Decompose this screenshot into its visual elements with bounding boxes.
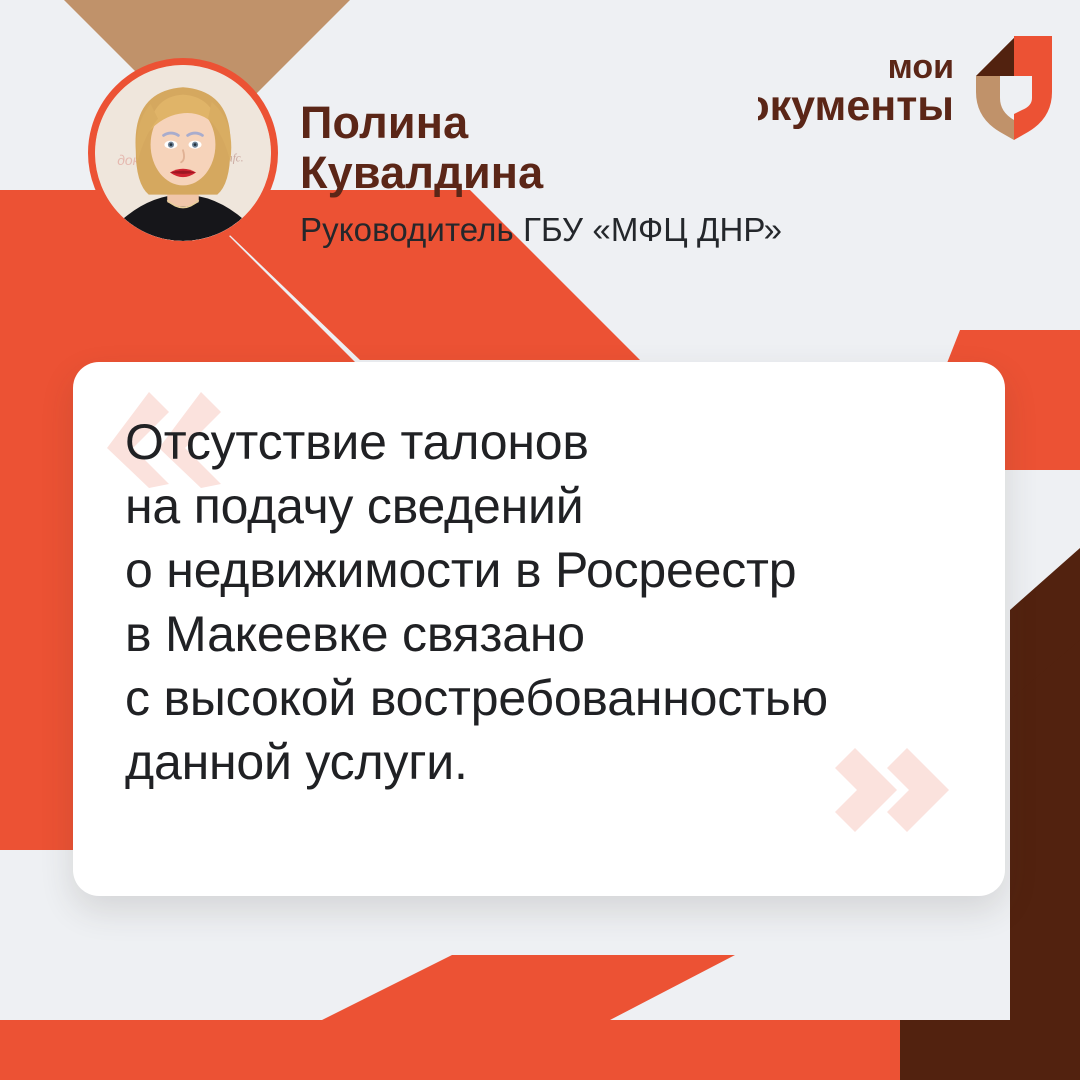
person-role: Руководитель ГБУ «МФЦ ДНР» (300, 211, 940, 249)
quote-text: Отсутствие талонов на подачу сведений о … (125, 410, 975, 794)
quote-card: Отсутствие талонов на подачу сведений о … (73, 362, 1005, 896)
mfc-shield-emblem (976, 36, 1052, 140)
avatar: документы mfc. (88, 58, 278, 248)
logo-word-dokumenty: документы (758, 82, 954, 130)
poster-canvas: документы mfc. (0, 0, 1080, 1080)
footer-bar-orange (0, 1020, 900, 1080)
avatar-photo: документы mfc. (95, 65, 271, 241)
footer-bar-brown (900, 1020, 1080, 1080)
mfc-logo: мои документы (750, 30, 1060, 142)
logo-word-moi: мои (888, 48, 954, 86)
